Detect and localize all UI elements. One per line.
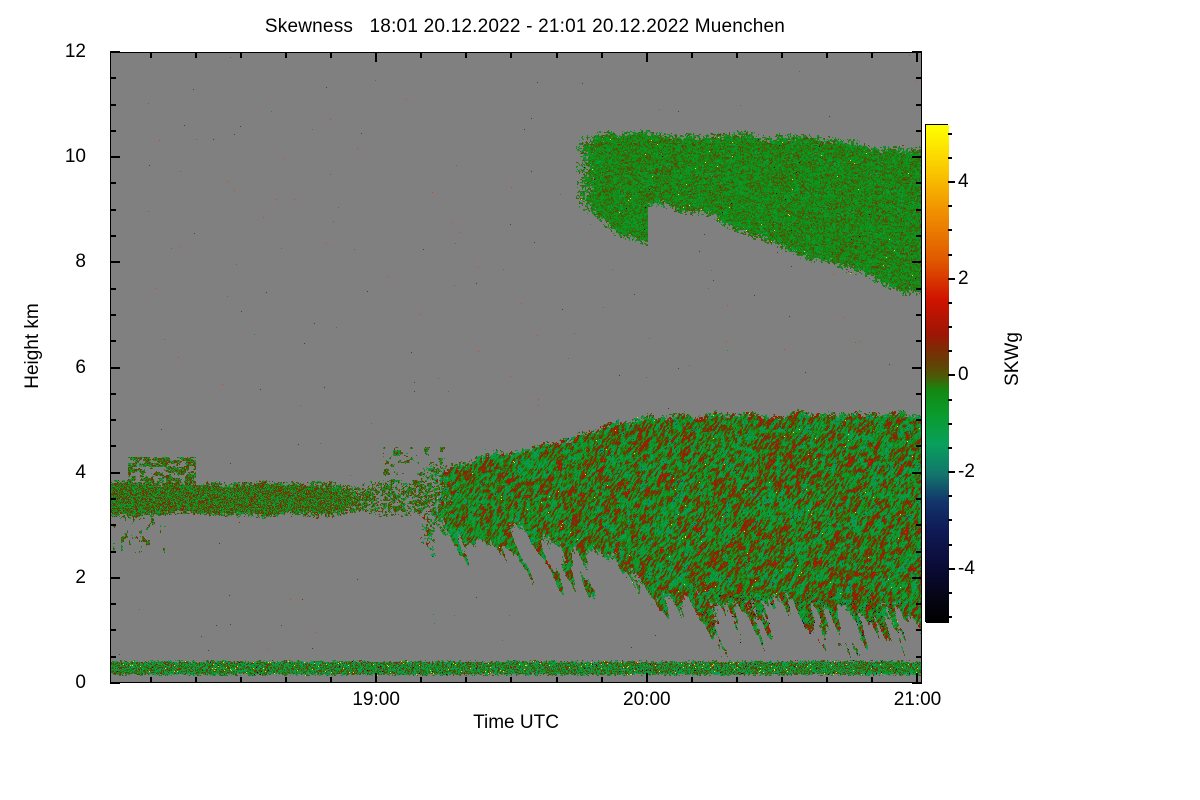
y-axis-tick-right xyxy=(912,156,922,158)
page-title: Skewness 18:01 20.12.2022 - 21:01 20.12.… xyxy=(0,16,1050,38)
colorbar-minor-tick xyxy=(948,157,952,159)
y-axis-tick-label: 4 xyxy=(0,463,100,482)
y-axis-minor-tick-right xyxy=(916,498,922,500)
colorbar-tick xyxy=(948,181,955,183)
y-axis-tick-right xyxy=(912,367,922,369)
colorbar-gradient-canvas xyxy=(926,125,949,623)
colorbar-minor-tick xyxy=(948,616,952,618)
colorbar-tick-label: 0 xyxy=(958,365,1004,384)
y-axis-minor-tick xyxy=(110,340,116,342)
x-axis-minor-tick-top xyxy=(601,52,603,58)
y-axis-minor-tick xyxy=(110,445,116,447)
x-axis-minor-tick xyxy=(510,677,512,683)
x-axis-minor-tick-top xyxy=(736,52,738,58)
y-axis-minor-tick-right xyxy=(916,182,922,184)
colorbar-minor-tick xyxy=(948,544,952,546)
y-axis-minor-tick-right xyxy=(916,77,922,79)
y-axis-minor-tick xyxy=(110,288,116,290)
y-axis-tick-label: 0 xyxy=(0,673,100,692)
x-axis-minor-tick xyxy=(285,677,287,683)
y-axis-minor-tick xyxy=(110,77,116,79)
colorbar-minor-tick xyxy=(948,447,952,449)
x-axis-tick-top xyxy=(916,52,918,62)
x-axis-minor-tick-top xyxy=(510,52,512,58)
y-axis-tick xyxy=(110,682,120,684)
colorbar-tick-label: -2 xyxy=(958,462,1004,481)
y-axis-minor-tick xyxy=(110,603,116,605)
y-axis-tick xyxy=(110,472,120,474)
y-axis-minor-tick-right xyxy=(916,393,922,395)
colorbar-minor-tick xyxy=(948,229,952,231)
colorbar-minor-tick xyxy=(948,205,952,207)
x-axis-minor-tick-top xyxy=(285,52,287,58)
y-axis-minor-tick xyxy=(110,209,116,211)
x-axis-minor-tick xyxy=(420,677,422,683)
y-axis-minor-tick xyxy=(110,551,116,553)
y-axis-minor-tick-right xyxy=(916,340,922,342)
x-axis-tick-label: 21:00 xyxy=(857,690,977,709)
figure-canvas: Skewness 18:01 20.12.2022 - 21:01 20.12.… xyxy=(0,0,1200,800)
x-axis-minor-tick xyxy=(691,677,693,683)
x-axis-minor-tick xyxy=(150,677,152,683)
colorbar-minor-tick xyxy=(948,302,952,304)
y-axis-minor-tick xyxy=(110,130,116,132)
x-axis-minor-tick-top xyxy=(150,52,152,58)
x-axis-minor-tick-top xyxy=(420,52,422,58)
colorbar-gradient xyxy=(925,124,948,622)
x-axis-tick-label: 19:00 xyxy=(316,690,436,709)
y-axis-tick xyxy=(110,577,120,579)
y-axis-minor-tick-right xyxy=(916,314,922,316)
x-axis-minor-tick xyxy=(601,677,603,683)
y-axis-minor-tick xyxy=(110,104,116,106)
colorbar-minor-tick xyxy=(948,399,952,401)
y-axis-tick-right xyxy=(912,472,922,474)
x-axis-minor-tick-top xyxy=(781,52,783,58)
y-axis-minor-tick xyxy=(110,524,116,526)
y-axis-minor-tick-right xyxy=(916,656,922,658)
y-axis-tick-right xyxy=(912,261,922,263)
colorbar-minor-tick xyxy=(948,423,952,425)
colorbar-minor-tick xyxy=(948,254,952,256)
y-axis-minor-tick-right xyxy=(916,288,922,290)
y-axis-minor-tick-right xyxy=(916,419,922,421)
colorbar-minor-tick xyxy=(948,133,952,135)
colorbar-tick-label: 4 xyxy=(958,172,1004,191)
y-axis-tick xyxy=(110,367,120,369)
colorbar-tick xyxy=(948,568,955,570)
x-axis-tick xyxy=(916,673,918,683)
x-axis-minor-tick xyxy=(826,677,828,683)
y-axis-tick xyxy=(110,51,120,53)
y-axis-tick xyxy=(110,156,120,158)
x-axis-tick-label: 20:00 xyxy=(587,690,707,709)
y-axis-minor-tick-right xyxy=(916,445,922,447)
x-axis-minor-tick xyxy=(465,677,467,683)
x-axis-tick xyxy=(375,673,377,683)
y-axis-tick-label: 10 xyxy=(0,147,100,166)
x-axis-minor-tick-top xyxy=(240,52,242,58)
y-axis-minor-tick-right xyxy=(916,603,922,605)
colorbar-minor-tick xyxy=(948,350,952,352)
y-axis-tick-label: 8 xyxy=(0,252,100,271)
y-axis-minor-tick-right xyxy=(916,551,922,553)
x-axis-minor-tick-top xyxy=(330,52,332,58)
y-axis-minor-tick-right xyxy=(916,629,922,631)
x-axis-minor-tick-top xyxy=(195,52,197,58)
colorbar-minor-tick xyxy=(948,592,952,594)
colorbar-tick xyxy=(948,374,955,376)
y-axis-minor-tick xyxy=(110,235,116,237)
y-axis-minor-tick xyxy=(110,498,116,500)
y-axis-minor-tick xyxy=(110,419,116,421)
y-axis-tick-label: 12 xyxy=(0,42,100,61)
y-axis-label: Height km xyxy=(22,256,44,436)
y-axis-minor-tick xyxy=(110,629,116,631)
y-axis-minor-tick-right xyxy=(916,130,922,132)
x-axis-tick-top xyxy=(646,52,648,62)
y-axis-minor-tick-right xyxy=(916,209,922,211)
colorbar-minor-tick xyxy=(948,519,952,521)
colorbar xyxy=(925,124,948,622)
heatmap-data-layer xyxy=(111,53,922,683)
x-axis-minor-tick xyxy=(556,677,558,683)
y-axis-minor-tick-right xyxy=(916,235,922,237)
heatmap-plot-area[interactable] xyxy=(110,52,922,683)
y-axis-tick-right xyxy=(912,577,922,579)
x-axis-minor-tick-top xyxy=(826,52,828,58)
y-axis-tick-label: 2 xyxy=(0,568,100,587)
x-axis-minor-tick-top xyxy=(691,52,693,58)
x-axis-tick-top xyxy=(375,52,377,62)
x-axis-minor-tick xyxy=(330,677,332,683)
colorbar-tick-label: 2 xyxy=(958,269,1004,288)
y-axis-minor-tick-right xyxy=(916,104,922,106)
x-axis-minor-tick-top xyxy=(871,52,873,58)
x-axis-label: Time UTC xyxy=(110,712,922,734)
x-axis-tick xyxy=(646,673,648,683)
colorbar-tick xyxy=(948,278,955,280)
colorbar-label: SKWg xyxy=(1002,294,1024,424)
colorbar-minor-tick xyxy=(948,495,952,497)
y-axis-minor-tick xyxy=(110,393,116,395)
x-axis-minor-tick xyxy=(781,677,783,683)
y-axis-tick-label: 6 xyxy=(0,358,100,377)
y-axis-minor-tick xyxy=(110,314,116,316)
y-axis-tick xyxy=(110,261,120,263)
y-axis-minor-tick-right xyxy=(916,524,922,526)
y-axis-minor-tick xyxy=(110,656,116,658)
colorbar-minor-tick xyxy=(948,326,952,328)
x-axis-minor-tick xyxy=(240,677,242,683)
x-axis-minor-tick xyxy=(736,677,738,683)
colorbar-tick-label: -4 xyxy=(958,559,1004,578)
colorbar-tick xyxy=(948,471,955,473)
x-axis-minor-tick-top xyxy=(556,52,558,58)
x-axis-minor-tick xyxy=(195,677,197,683)
x-axis-minor-tick xyxy=(871,677,873,683)
y-axis-minor-tick xyxy=(110,182,116,184)
x-axis-minor-tick-top xyxy=(465,52,467,58)
